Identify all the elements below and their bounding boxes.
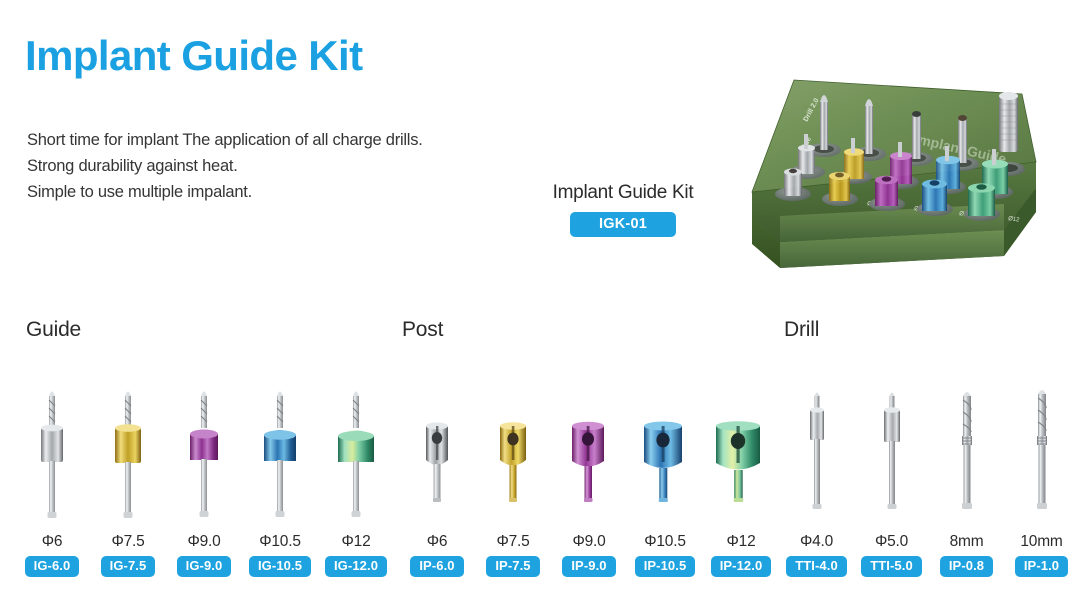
list-item[interactable]: Φ9.0 IP-9.0 (551, 370, 627, 577)
item-code-badge: TTI-4.0 (786, 556, 847, 578)
drill-collar-4mm-icon (802, 370, 832, 522)
list-item[interactable]: Φ7.5 IG-7.5 (90, 370, 166, 577)
kit-caption-title: Implant Guide Kit (520, 182, 726, 204)
description-line-2: Strong durability against heat. (27, 153, 423, 179)
section-header-drill: Drill (784, 318, 819, 342)
drill-item-group: Φ4.0 TTI-4.0 Φ5.0 TTI-5.0 (779, 370, 1079, 577)
post-instrument-green-icon (710, 370, 772, 522)
kit-caption: Implant Guide Kit IGK-01 (520, 182, 726, 237)
section-header-guide: Guide (26, 318, 81, 342)
item-code-badge: IP-1.0 (1015, 556, 1068, 578)
product-description: Short time for implant The application o… (27, 127, 423, 205)
guide-item-group: Φ6 IG-6.0 (14, 370, 394, 577)
item-size-label: Φ12 (726, 534, 755, 550)
product-catalog-page: Implant Guide Kit Short time for implant… (0, 0, 1079, 614)
item-size-label: 8mm (950, 534, 984, 550)
item-code-badge: IP-6.0 (410, 556, 463, 578)
list-item[interactable]: Φ5.0 TTI-5.0 (854, 370, 929, 577)
item-code-badge: IP-0.8 (940, 556, 993, 578)
item-size-label: Φ9.0 (572, 534, 605, 550)
item-code-badge: IG-9.0 (177, 556, 232, 578)
item-size-label: Φ5.0 (875, 534, 908, 550)
list-item[interactable]: 8mm IP-0.8 (929, 370, 1004, 577)
item-code-badge: IG-12.0 (325, 556, 387, 578)
section-header-post: Post (402, 318, 443, 342)
item-size-label: Φ12 (341, 534, 370, 550)
guide-instrument-blue-icon (252, 370, 308, 522)
implant-guide-kit-photo: Drill 2.0 Guide Post Implant Guide Ø6 Ø7… (736, 42, 1052, 286)
item-code-badge: IG-10.5 (249, 556, 311, 578)
item-code-badge: IG-6.0 (25, 556, 80, 578)
post-item-group: Φ6 IP-6.0 (399, 370, 779, 577)
list-item[interactable]: Φ6 IP-6.0 (399, 370, 475, 577)
description-line-1: Short time for implant The application o… (27, 127, 423, 153)
item-size-label: Φ6 (42, 534, 63, 550)
kit-code-badge: IGK-01 (570, 212, 676, 237)
list-item[interactable]: Φ7.5 IP-7.5 (475, 370, 551, 577)
item-size-label: Φ10.5 (644, 534, 686, 550)
description-line-3: Simple to use multiple impalant. (27, 179, 423, 205)
item-code-badge: TTI-5.0 (861, 556, 922, 578)
list-item[interactable]: Φ9.0 IG-9.0 (166, 370, 242, 577)
item-code-badge: IP-7.5 (486, 556, 539, 578)
guide-instrument-gold-icon (105, 370, 151, 522)
item-size-label: Φ9.0 (187, 534, 220, 550)
list-item[interactable]: Φ12 IP-12.0 (703, 370, 779, 577)
page-title: Implant Guide Kit (25, 33, 362, 79)
post-instrument-silver-icon (417, 370, 457, 522)
item-code-badge: IP-10.5 (635, 556, 696, 578)
guide-instrument-silver-icon (30, 370, 74, 522)
list-item[interactable]: Φ4.0 TTI-4.0 (779, 370, 854, 577)
item-size-label: Φ6 (427, 534, 448, 550)
guide-instrument-purple-icon (178, 370, 230, 522)
list-item[interactable]: Φ6 IG-6.0 (14, 370, 90, 577)
item-size-label: Φ7.5 (496, 534, 529, 550)
list-item[interactable]: Φ10.5 IP-10.5 (627, 370, 703, 577)
item-size-label: 10mm (1020, 534, 1062, 550)
post-instrument-blue-icon (637, 370, 693, 522)
post-instrument-gold-icon (491, 370, 535, 522)
item-code-badge: IP-9.0 (562, 556, 615, 578)
twist-drill-8mm-icon (954, 370, 980, 522)
drill-collar-5mm-icon (876, 370, 908, 522)
list-item[interactable]: Φ12 IG-12.0 (318, 370, 394, 577)
twist-drill-10mm-icon (1029, 370, 1055, 522)
list-item[interactable]: Φ10.5 IG-10.5 (242, 370, 318, 577)
item-size-label: Φ7.5 (111, 534, 144, 550)
guide-instrument-green-icon (326, 370, 386, 522)
item-size-label: Φ10.5 (259, 534, 301, 550)
list-item[interactable]: 10mm IP-1.0 (1004, 370, 1079, 577)
item-code-badge: IP-12.0 (711, 556, 772, 578)
post-instrument-purple-icon (564, 370, 614, 522)
item-size-label: Φ4.0 (800, 534, 833, 550)
item-code-badge: IG-7.5 (101, 556, 156, 578)
